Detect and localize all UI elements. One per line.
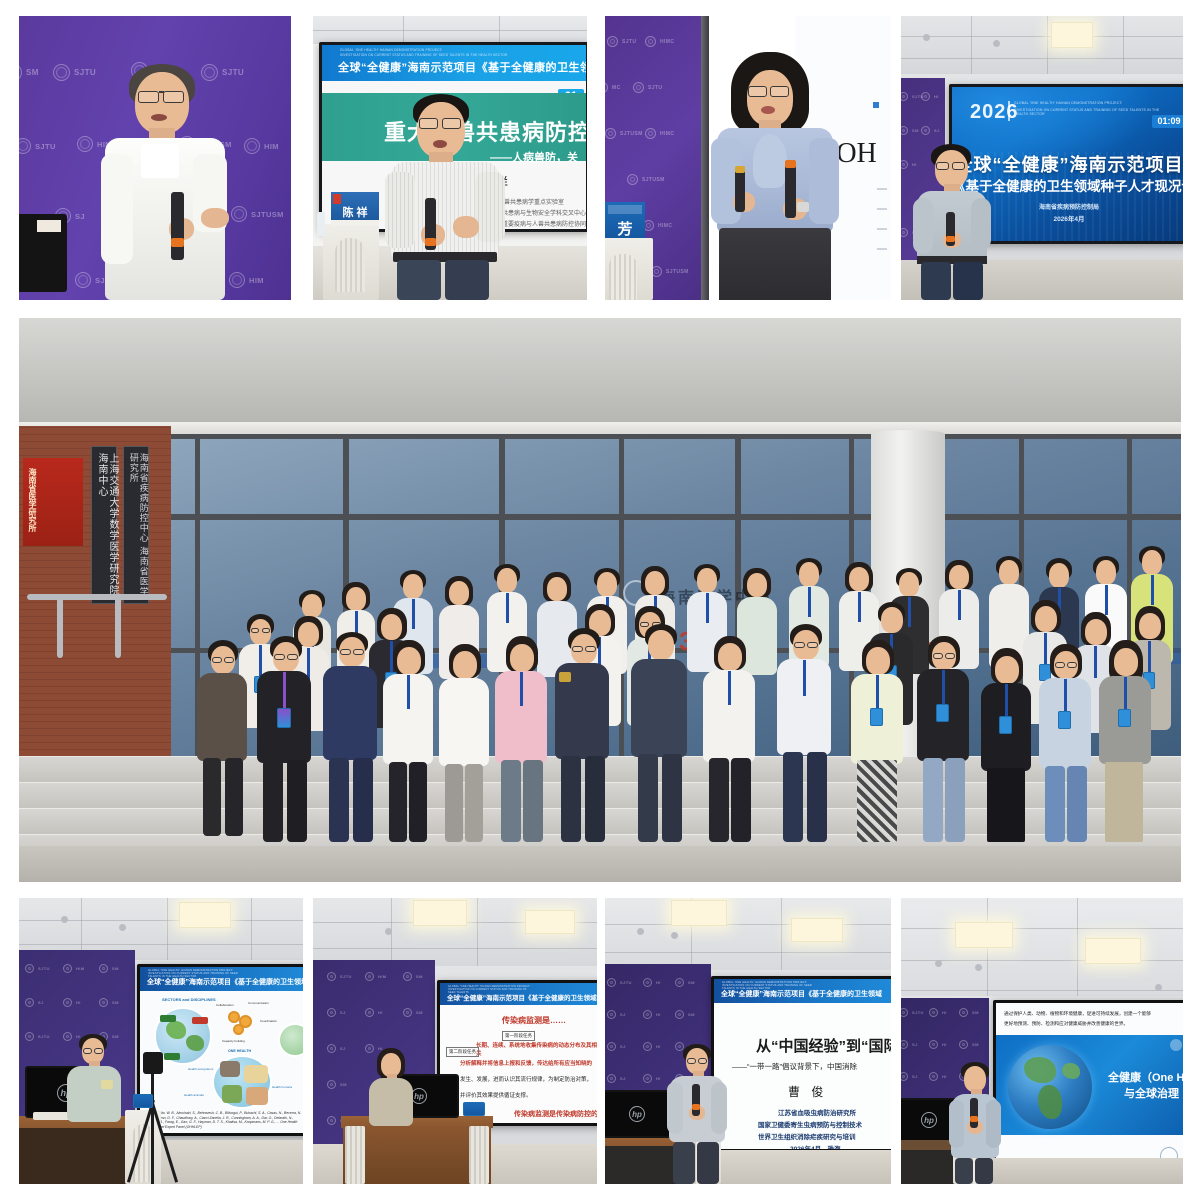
person-speaker xyxy=(913,144,991,300)
diagram-label-capacity: Capacity building xyxy=(222,1039,245,1043)
slide-body-1: 发生、发展，进而认识其流行规律，为制定防治对策， xyxy=(460,1075,592,1083)
stage1-label: 第一阶段任务 xyxy=(502,1031,535,1041)
nameplate: 陈 祥 xyxy=(331,192,379,220)
nameplate: 芳 xyxy=(605,202,645,238)
photo-speaker-opening-slide[interactable]: SJTU HI SM SJ HI SM SJ HI 2026 GLOBAL 'O… xyxy=(901,16,1183,300)
photo-speaker-woman-blue[interactable]: SJTU HIMC MC SJTU SJTUSM HIMC SJTUSM HIM… xyxy=(605,16,891,300)
diagram-label-collaboration: Collaboration xyxy=(216,1003,234,1007)
slide-title-cn2: 与全球治理 xyxy=(1124,1085,1179,1101)
photo-lecture-caojun[interactable]: SJTU HI SM SJ HI SM SJ HI SM SJ HI SM SJ… xyxy=(605,898,891,1184)
slide-affiliation-3: 世界卫生组织消除疟疾研究与培训 xyxy=(758,1131,856,1141)
slide-header-en-line1: GLOBAL 'ONE HEALTH' HAINAN DEMONSTRATION… xyxy=(1014,101,1144,105)
slide-header-cn: 全球“全健康”海南示范项目《基于全健康的卫生领域 xyxy=(721,989,882,999)
slide-timer-badge: 01:09 xyxy=(1152,115,1183,128)
presentation-screen: GLOBAL 'ONE HEALTH' HAINAN DEMONSTRATION… xyxy=(711,976,891,1152)
diagram-label-coordination: Coordination xyxy=(260,1019,277,1023)
microphone xyxy=(171,192,184,260)
camera xyxy=(143,1052,163,1074)
photo-lecture-onehealth-diagram[interactable]: SJTU HIM SM SJ HI SM SJTU HI SM SJ HI SM… xyxy=(19,898,303,1184)
monitor: hp xyxy=(605,1090,675,1138)
nameplate-text: 芳 xyxy=(605,218,645,239)
person-front-13 xyxy=(979,648,1033,842)
slide-body-line2: 更好地预测、预防、检测和应对健康威胁并改善健康的世界。 xyxy=(1004,1021,1128,1027)
slide-title-cn: 全健康（One Health） xyxy=(1108,1069,1183,1085)
building-sign-left: 上海交通大学数学医学研究院海南中心 xyxy=(91,446,117,604)
person-front-10 xyxy=(775,624,833,842)
person-front-8 xyxy=(629,624,689,842)
person-front-1 xyxy=(195,640,249,836)
person-front-12 xyxy=(915,636,971,842)
slide-header-cn: 全球“全健康”海南示范项目《基于全健康的卫生领域种子人才现况调研及培训》 xyxy=(338,59,586,75)
person-speaker-woman xyxy=(709,52,841,300)
slide-header-cn: 全球“全健康”海南示范项目《基于全健康的卫生领域种子 xyxy=(447,992,597,1002)
presentation-screen: 通过保护人类、动物、植物和环境健康，促进可持续发展，创建一个能够 更好地预测、预… xyxy=(993,1000,1183,1172)
diagram-label-humans: Health humans xyxy=(272,1085,292,1089)
diagram-label-animals: Health animals xyxy=(184,1093,204,1097)
person-front-11 xyxy=(849,640,905,842)
slide-date: 2026年4月，珠海 xyxy=(790,1143,841,1149)
building-sign-left-text: 上海交通大学数学医学研究院海南中心 xyxy=(96,453,118,603)
building-sign-right: 海南省疾病防控中心 海南省医学研究所 xyxy=(123,446,149,604)
person-front-6 xyxy=(493,636,549,842)
slide-header-en-line2: INVESTIGATION ON CURRENT STATUS AND TRAI… xyxy=(340,53,510,57)
stage2-label: 第二阶段任务 xyxy=(446,1047,479,1057)
person-lecturer xyxy=(667,1044,727,1184)
person-speaker-chenxiang xyxy=(383,94,507,300)
person-front-2 xyxy=(255,636,313,842)
slide-conclusion: 传染病监测是传染病防控的 xyxy=(514,1109,597,1119)
photo-lecture-globe[interactable]: SJTU HI SM SJ HI SM SJ HI SM SJ HI SM 通过… xyxy=(901,898,1183,1184)
slide-presenter: 曹 俊 xyxy=(788,1083,827,1100)
slide-affiliation-1: 江苏省血吸虫病防治研究所 xyxy=(778,1107,856,1117)
person-lecturer xyxy=(949,1062,1001,1184)
person-front-4 xyxy=(381,640,435,842)
name-card xyxy=(133,1094,153,1108)
slide-header-cn: 全球“全健康”海南示范项目《基于全健康的卫生领域种子人才 xyxy=(147,977,303,987)
slide-affiliation-2: 国家卫健委寄生虫病预防与控制技术 xyxy=(758,1119,862,1129)
photo-group-portrait[interactable]: 海南省医学研究所 上海交通大学数学医学研究院海南中心 海南省疾病防控中心 海南省… xyxy=(19,318,1181,882)
person-front-15 xyxy=(1097,640,1153,842)
presentation-screen: GLOBAL 'ONE HEALTH' HAINAN DEMONSTRATION… xyxy=(137,964,303,1136)
photo-speaker-chenxiang[interactable]: GLOBAL 'ONE HEALTH' HAINAN DEMONSTRATION… xyxy=(313,16,587,300)
slide-body-line1: 通过保护人类、动物、植物和环境健康，促进可持续发展，创建一个能够 xyxy=(1004,1011,1151,1017)
diagram-label-ecosystems: Health ecosystems xyxy=(188,1067,213,1071)
photo-collage: SM SJTU HIMC SJTU SJTU HIMC SJTUSM HIM S… xyxy=(0,0,1200,1200)
diagram-label-communication: Communication xyxy=(248,1001,269,1005)
person-front-7 xyxy=(553,628,611,842)
stage1-text: 长期、连续、系统地收集传染病的动态分布及其相关 xyxy=(476,1041,597,1057)
photo-lecture-surveillance[interactable]: SJTU HIM SM SJ HI SM SJ HI SM SJ HI GLOB… xyxy=(313,898,597,1184)
person-front-5 xyxy=(437,644,491,842)
person-front-3 xyxy=(321,632,379,842)
person-lecturer xyxy=(65,1034,123,1126)
diagram-label-onehealth: ONE HEALTH xyxy=(228,1049,251,1053)
photo-speaker-white-shirt[interactable]: SM SJTU HIMC SJTU SJTU HIMC SJTUSM HIM S… xyxy=(19,16,291,300)
person-front-14 xyxy=(1037,644,1093,842)
person-front-9 xyxy=(701,636,757,842)
person-lecturer xyxy=(367,1048,415,1126)
slide-header-en-line1: GLOBAL 'ONE HEALTH' HAINAN DEMONSTRATION… xyxy=(340,48,490,52)
slide-year: 2026 xyxy=(970,101,1019,124)
stage2-text: 分析解释并将信息上报和反馈，传达给所有应当知晓的 xyxy=(460,1059,592,1067)
building-sign-right-text: 海南省疾病防控中心 海南省医学研究所 xyxy=(128,453,148,603)
presentation-screen: GLOBAL 'ONE HEALTH' HAINAN DEMONSTRATION… xyxy=(437,980,597,1126)
name-card xyxy=(463,1102,485,1116)
diagram-label-sectors: SECTORS and DISCIPLINES xyxy=(162,997,216,1002)
slide-title-cn: 传染病监测是…… xyxy=(502,1015,566,1026)
person-speaker xyxy=(97,58,237,300)
slide-body-2: 并评价其效果提供循证支撑。 xyxy=(460,1091,532,1099)
earth-globe xyxy=(1008,1045,1092,1129)
slide-citation: Adisasmito, W. B., Almuhairi, S., Behrav… xyxy=(148,1111,303,1129)
slide-subtitle-cn: ——“一带一路”倡议背景下，中国消除 xyxy=(732,1061,857,1072)
slide-title-cn: 从“中国经验”到“国际 xyxy=(756,1035,891,1056)
nameplate-text: 陈 祥 xyxy=(331,204,379,220)
slide-header-en-line2: INVESTIGATION ON CURRENT STATUS AND TRAI… xyxy=(1014,108,1164,117)
